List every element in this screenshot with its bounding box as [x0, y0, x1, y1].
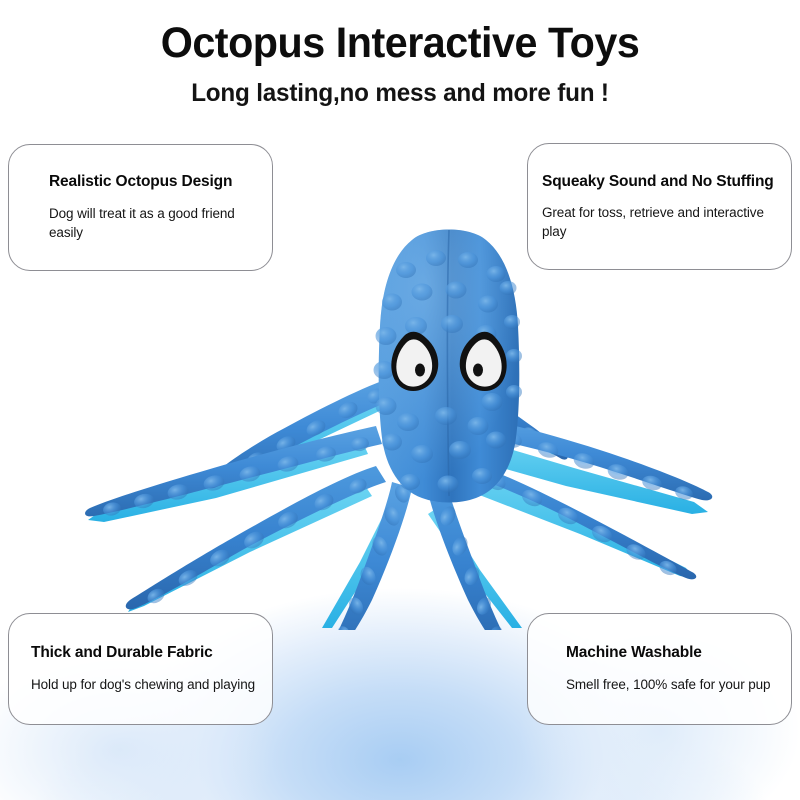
callout-squeaky-sound-and-no-stuffing: Squeaky Sound and No Stuffing Great for …	[527, 143, 792, 270]
callout-body: Great for toss, retrieve and interactive…	[542, 191, 779, 241]
page-subtitle: Long lasting,no mess and more fun !	[12, 68, 788, 108]
callout-thick-and-durable-fabric: Thick and Durable Fabric Hold up for dog…	[8, 613, 273, 725]
callout-title: Thick and Durable Fabric	[31, 644, 258, 662]
callout-title: Squeaky Sound and No Stuffing	[542, 173, 779, 191]
octopus-illustration	[60, 210, 750, 630]
header: Octopus Interactive Toys Long lasting,no…	[0, 0, 800, 108]
octopus-plush-toy-image	[60, 210, 750, 630]
product-infographic-page: Octopus Interactive Toys Long lasting,no…	[0, 0, 800, 800]
callout-title: Realistic Octopus Design	[49, 173, 250, 191]
callout-body: Dog will treat it as a good friend easil…	[49, 191, 250, 242]
page-title: Octopus Interactive Toys	[16, 0, 784, 68]
callout-machine-washable: Machine Washable Smell free, 100% safe f…	[527, 613, 792, 725]
callout-body: Hold up for dog's chewing and playing	[31, 662, 258, 694]
callout-body: Smell free, 100% safe for your pup	[566, 662, 777, 694]
octopus-head	[374, 230, 523, 503]
callout-title: Machine Washable	[566, 644, 777, 662]
callout-realistic-octopus-design: Realistic Octopus Design Dog will treat …	[8, 144, 273, 271]
